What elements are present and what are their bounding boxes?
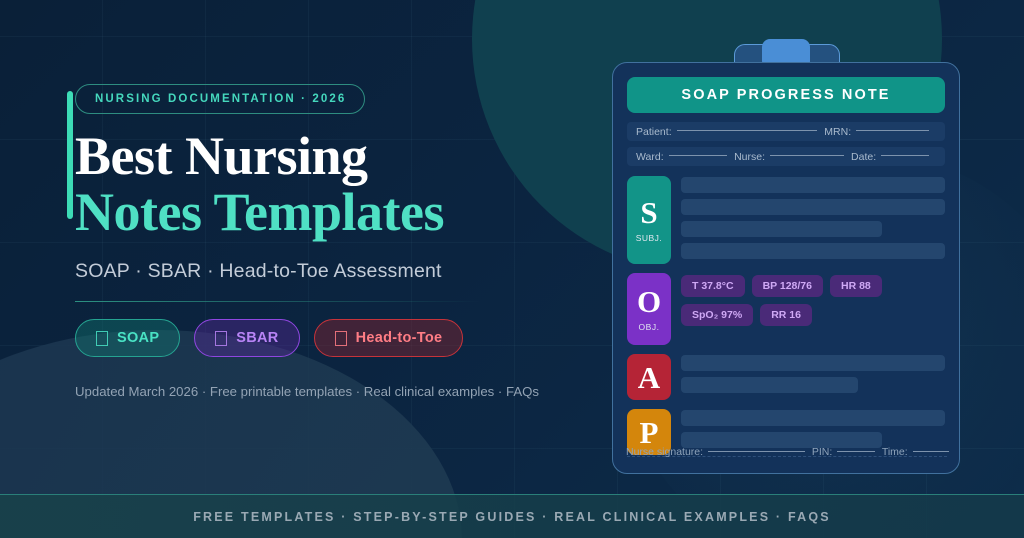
footer-bar: FREE TEMPLATES · STEP-BY-STEP GUIDES · R… (0, 494, 1024, 538)
subtitle: SOAP · SBAR · Head-to-Toe Assessment (75, 260, 570, 283)
letter-o-sublabel: OBJ. (639, 322, 660, 332)
letter-badge-a: A (627, 354, 671, 400)
pill-sbar-label: SBAR (236, 330, 278, 346)
letter-a: A (638, 362, 660, 393)
vital-chip-respiratory-rate: RR 16 (760, 304, 812, 326)
letter-badge-s: S SUBJ. (627, 176, 671, 264)
letter-s: S (640, 197, 657, 228)
eyebrow-badge: NURSING DOCUMENTATION · 2026 (75, 84, 365, 114)
nurse-field-line[interactable] (770, 155, 844, 156)
missing-glyph-icon (335, 331, 347, 346)
note-line (681, 355, 945, 371)
hero-banner: NURSING DOCUMENTATION · 2026 Best Nursin… (0, 0, 1024, 538)
divider (75, 301, 481, 302)
pill-head-to-toe[interactable]: Head-to-Toe (314, 319, 464, 357)
pin-label: PIN: (812, 446, 832, 458)
ward-field-line[interactable] (669, 155, 727, 156)
nurse-signature-line[interactable] (708, 451, 805, 452)
assessment-lines (681, 354, 945, 400)
hero-text-column: NURSING DOCUMENTATION · 2026 Best Nursin… (60, 84, 570, 399)
signature-row: Nurse signature: PIN: Time: (626, 446, 956, 458)
section-assessment: A (627, 354, 945, 400)
note-line (681, 221, 882, 237)
missing-glyph-icon (215, 331, 227, 346)
vital-chip-heart-rate: HR 88 (830, 275, 882, 297)
time-line[interactable] (913, 451, 949, 452)
soap-note-card: SOAP PROGRESS NOTE Patient: MRN: Ward: N… (612, 62, 960, 474)
time-label: Time: (882, 446, 908, 458)
letter-o: O (637, 286, 661, 317)
note-line (681, 177, 945, 193)
vital-chip-spo2: SpO₂ 97% (681, 304, 753, 326)
ward-meta-row: Ward: Nurse: Date: (627, 147, 945, 166)
section-subjective: S SUBJ. (627, 176, 945, 264)
page-title: Best Nursing Notes Templates (75, 128, 570, 240)
note-line (681, 243, 945, 259)
letter-p: P (640, 417, 659, 448)
nurse-signature-label: Nurse signature: (626, 446, 703, 458)
title-line-2: Notes Templates (75, 184, 570, 240)
section-objective: O OBJ. T 37.8°C BP 128/76 HR 88 SpO₂ 97%… (627, 273, 945, 345)
letter-s-sublabel: SUBJ. (636, 233, 663, 243)
patient-label: Patient: (636, 126, 672, 138)
pill-soap[interactable]: SOAP (75, 319, 180, 357)
patient-field-line[interactable] (677, 130, 818, 131)
note-line (681, 199, 945, 215)
note-header: SOAP PROGRESS NOTE (627, 77, 945, 113)
mrn-label: MRN: (824, 126, 851, 138)
footer-text: FREE TEMPLATES · STEP-BY-STEP GUIDES · R… (193, 510, 831, 524)
letter-badge-o: O OBJ. (627, 273, 671, 345)
nurse-label: Nurse: (734, 151, 765, 163)
note-line (681, 377, 858, 393)
pill-sbar[interactable]: SBAR (194, 319, 299, 357)
date-label: Date: (851, 151, 876, 163)
vitals-chip-group: T 37.8°C BP 128/76 HR 88 SpO₂ 97% RR 16 (681, 273, 945, 345)
ward-label: Ward: (636, 151, 664, 163)
patient-meta-row: Patient: MRN: (627, 122, 945, 141)
template-pill-group: SOAP SBAR Head-to-Toe (75, 319, 570, 357)
subjective-lines (681, 176, 945, 264)
pill-head-to-toe-label: Head-to-Toe (356, 330, 443, 346)
pin-line[interactable] (837, 451, 875, 452)
pill-soap-label: SOAP (117, 330, 159, 346)
meta-text: Updated March 2026 · Free printable temp… (75, 384, 570, 399)
note-line (681, 410, 945, 426)
clipboard: SOAP PROGRESS NOTE Patient: MRN: Ward: N… (612, 44, 960, 474)
vital-chip-blood-pressure: BP 128/76 (752, 275, 823, 297)
mrn-field-line[interactable] (856, 130, 929, 131)
accent-bar (67, 91, 73, 219)
missing-glyph-icon (96, 331, 108, 346)
vital-chip-temperature: T 37.8°C (681, 275, 745, 297)
title-line-1: Best Nursing (75, 128, 570, 184)
date-field-line[interactable] (881, 155, 929, 156)
